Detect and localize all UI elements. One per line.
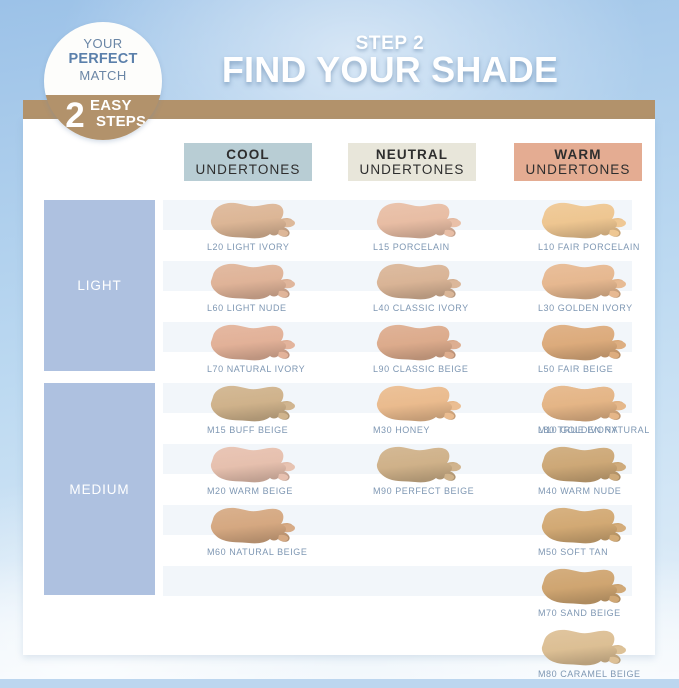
shade-label: M60 NATURAL BEIGE bbox=[207, 547, 337, 557]
shade-cell[interactable]: M50 SOFT TAN bbox=[538, 505, 668, 566]
shade-cell[interactable]: L30 GOLDEN IVORY bbox=[538, 261, 668, 322]
shade-label: L50 FAIR BEIGE bbox=[538, 364, 668, 374]
shade-label: M15 BUFF BEIGE bbox=[207, 425, 337, 435]
shade-label: L30 GOLDEN IVORY bbox=[538, 303, 668, 313]
perfect-match-badge: YOUR PERFECT MATCH 2 EASY STEPS bbox=[44, 22, 162, 140]
group-label: LIGHT bbox=[77, 278, 121, 293]
shade-cell[interactable]: M90 PERFECT BEIGE bbox=[373, 444, 503, 505]
shade-label: L70 NATURAL IVORY bbox=[207, 364, 337, 374]
shade-cell[interactable]: M40 WARM NUDE bbox=[538, 444, 668, 505]
shade-label: M50 SOFT TAN bbox=[538, 547, 668, 557]
shade-label: M90 PERFECT BEIGE bbox=[373, 486, 503, 496]
shade-swatch-icon bbox=[538, 261, 638, 302]
shade-cell[interactable]: M15 BUFF BEIGE bbox=[207, 383, 337, 444]
undertone-title: NEUTRAL bbox=[376, 147, 448, 162]
shade-swatch-icon bbox=[207, 444, 307, 485]
undertone-header-neutral[interactable]: NEUTRALUNDERTONES bbox=[348, 143, 476, 181]
shade-cell[interactable]: M20 WARM BEIGE bbox=[207, 444, 337, 505]
shade-swatch-icon bbox=[207, 261, 307, 302]
shade-cell[interactable]: L90 CLASSIC BEIGE bbox=[373, 322, 503, 383]
shade-label: M40 WARM NUDE bbox=[538, 486, 668, 496]
shade-label: L40 CLASSIC IVORY bbox=[373, 303, 503, 313]
shade-cell[interactable]: M70 SAND BEIGE bbox=[538, 566, 668, 627]
undertone-subtitle: UNDERTONES bbox=[525, 162, 630, 177]
group-block-light[interactable]: LIGHT bbox=[44, 200, 155, 371]
shade-label: M70 SAND BEIGE bbox=[538, 608, 668, 618]
shade-swatch-icon bbox=[373, 200, 473, 241]
shade-swatch-icon bbox=[538, 322, 638, 363]
badge-line-perfect: PERFECT bbox=[44, 51, 162, 67]
shade-swatch-icon bbox=[538, 627, 638, 668]
shade-swatch-icon bbox=[538, 566, 638, 607]
shade-swatch-icon bbox=[207, 505, 307, 546]
shade-cell[interactable]: L20 LIGHT IVORY bbox=[207, 200, 337, 261]
shade-cell[interactable]: M10 GOLDEN NATURAL bbox=[538, 383, 668, 444]
shade-label: L90 CLASSIC BEIGE bbox=[373, 364, 503, 374]
shade-cell[interactable]: M30 HONEY bbox=[373, 383, 503, 444]
shade-swatch-icon bbox=[538, 444, 638, 485]
group-block-medium[interactable]: MEDIUM bbox=[44, 383, 155, 595]
badge-line-match: MATCH bbox=[44, 68, 162, 83]
undertone-header-cool[interactable]: COOLUNDERTONES bbox=[184, 143, 312, 181]
shade-cell[interactable]: L60 LIGHT NUDE bbox=[207, 261, 337, 322]
badge-line-your: YOUR bbox=[44, 36, 162, 51]
shade-chart-card: LIGHTMEDIUM COOLUNDERTONESNEUTRALUNDERTO… bbox=[23, 119, 655, 655]
badge-step-number: 2 bbox=[58, 95, 92, 136]
shade-label: L20 LIGHT IVORY bbox=[207, 242, 337, 252]
shade-cell[interactable]: M60 NATURAL BEIGE bbox=[207, 505, 337, 566]
shade-label: M30 HONEY bbox=[373, 425, 503, 435]
shade-label: L10 FAIR PORCELAIN bbox=[538, 242, 668, 252]
shade-swatch-icon bbox=[373, 383, 473, 424]
undertone-title: WARM bbox=[554, 147, 601, 162]
shade-swatch-icon bbox=[538, 505, 638, 546]
shade-swatch-icon bbox=[207, 322, 307, 363]
badge-line-steps: STEPS bbox=[96, 114, 158, 129]
shade-label: M10 GOLDEN NATURAL bbox=[538, 425, 668, 435]
shade-swatch-icon bbox=[373, 261, 473, 302]
shade-swatch-icon bbox=[538, 383, 638, 424]
shade-label: L15 PORCELAIN bbox=[373, 242, 503, 252]
badge-line-easy: EASY bbox=[90, 98, 152, 113]
undertone-header-warm[interactable]: WARMUNDERTONES bbox=[514, 143, 642, 181]
undertone-title: COOL bbox=[226, 147, 269, 162]
shade-cell[interactable]: L10 FAIR PORCELAIN bbox=[538, 200, 668, 261]
shade-cell[interactable]: L40 CLASSIC IVORY bbox=[373, 261, 503, 322]
shade-label: L60 LIGHT NUDE bbox=[207, 303, 337, 313]
shade-swatch-icon bbox=[207, 383, 307, 424]
shade-swatch-icon bbox=[207, 200, 307, 241]
shade-cell[interactable]: L70 NATURAL IVORY bbox=[207, 322, 337, 383]
shade-swatch-icon bbox=[538, 200, 638, 241]
shade-swatch-icon bbox=[373, 444, 473, 485]
shade-cell[interactable]: L50 FAIR BEIGE bbox=[538, 322, 668, 383]
shade-label: M80 CARAMEL BEIGE bbox=[538, 669, 668, 679]
shade-swatch-icon bbox=[373, 322, 473, 363]
page-title: FIND YOUR SHADE bbox=[140, 52, 640, 88]
shade-cell[interactable]: L15 PORCELAIN bbox=[373, 200, 503, 261]
shade-label: M20 WARM BEIGE bbox=[207, 486, 337, 496]
undertone-subtitle: UNDERTONES bbox=[195, 162, 300, 177]
group-label: MEDIUM bbox=[69, 482, 129, 497]
undertone-subtitle: UNDERTONES bbox=[359, 162, 464, 177]
